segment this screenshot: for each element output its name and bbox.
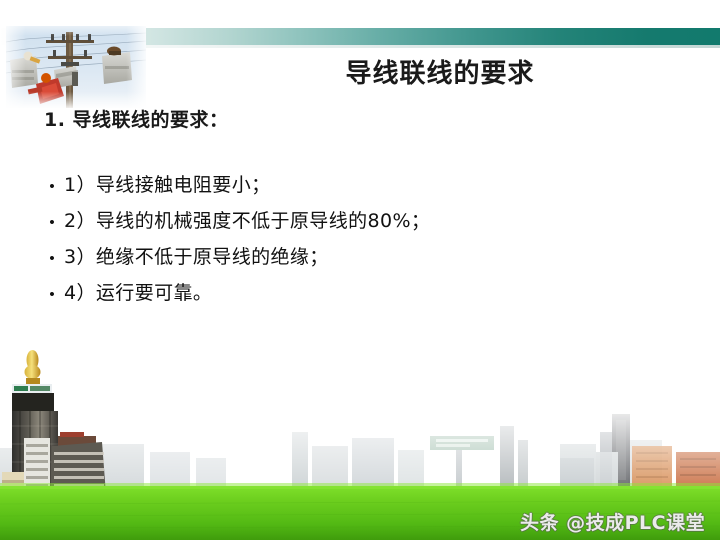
list-item: • 1）导线接触电阻要小； [40, 170, 600, 206]
list-item: • 3）绝缘不低于原导线的绝缘； [40, 242, 600, 278]
list-item: • 2）导线的机械强度不低于原导线的80%； [40, 206, 600, 242]
slide-canvas: 导线联线的要求 1. 导线联线的要求： • 1）导线接触电阻要小； • 2）导线… [0, 0, 720, 540]
bullet-point-icon: • [40, 251, 64, 266]
bullet-point-icon: • [40, 215, 64, 230]
list-item-text: 1）导线接触电阻要小； [64, 170, 271, 197]
power-line-workers-photo [6, 26, 146, 108]
list-item-text: 2）导线的机械强度不低于原导线的80%； [64, 206, 430, 233]
section-heading: 1. 导线联线的要求： [44, 105, 229, 132]
bullet-point-icon: • [40, 287, 64, 302]
list-item-text: 3）绝缘不低于原导线的绝缘； [64, 242, 329, 269]
bullet-point-icon: • [40, 179, 64, 194]
watermark-label: 头条 @技成PLC课堂 [520, 508, 705, 535]
requirements-list: • 1）导线接触电阻要小； • 2）导线的机械强度不低于原导线的80%； • 3… [40, 170, 600, 314]
list-item-text: 4）运行要可靠。 [64, 278, 212, 305]
slide-title: 导线联线的要求 [200, 53, 680, 90]
list-item: • 4）运行要可靠。 [40, 278, 600, 314]
